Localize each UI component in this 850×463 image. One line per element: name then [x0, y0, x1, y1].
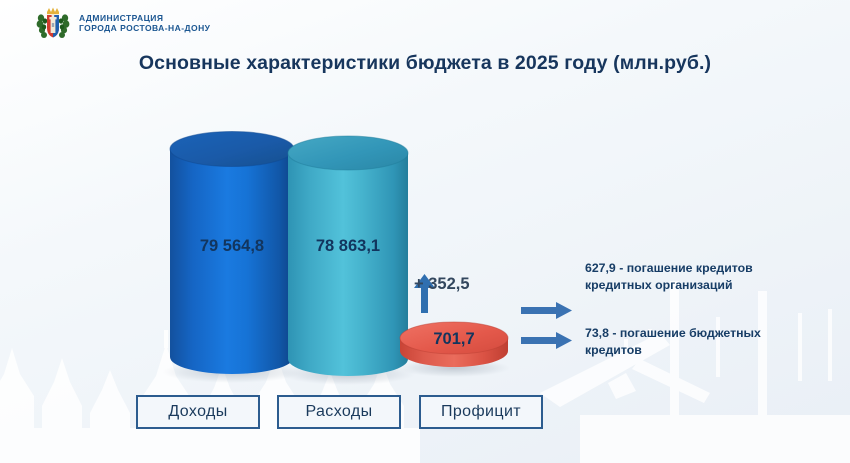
note-credit-organizations: 627,9 - погашение кредитов кредитных орг…	[585, 260, 820, 295]
cylinder-expense	[288, 136, 408, 376]
category-box-income[interactable]: Доходы	[136, 395, 260, 429]
slide-canvas: АДМИНИСТРАЦИЯ ГОРОДА РОСТОВА-НА-ДОНУ Осн…	[0, 0, 850, 463]
arrow-right-icon-2	[521, 332, 572, 349]
category-label-expense: Расходы	[305, 403, 372, 421]
budget-cylinder-chart	[0, 0, 850, 463]
cylinder-income	[170, 132, 294, 374]
arrow-right-icon-1	[521, 302, 572, 319]
category-box-expense[interactable]: Расходы	[277, 395, 401, 429]
category-label-income: Доходы	[168, 403, 227, 421]
delta-value: + 352,5	[414, 275, 470, 294]
category-box-surplus[interactable]: Профицит	[419, 395, 543, 429]
delta-annotation: + 352,5	[414, 275, 470, 294]
category-label-surplus: Профицит	[441, 403, 521, 421]
note-budget-credits: 73,8 - погашение бюджетных кредитов	[585, 325, 820, 360]
cylinder-surplus	[400, 322, 508, 367]
